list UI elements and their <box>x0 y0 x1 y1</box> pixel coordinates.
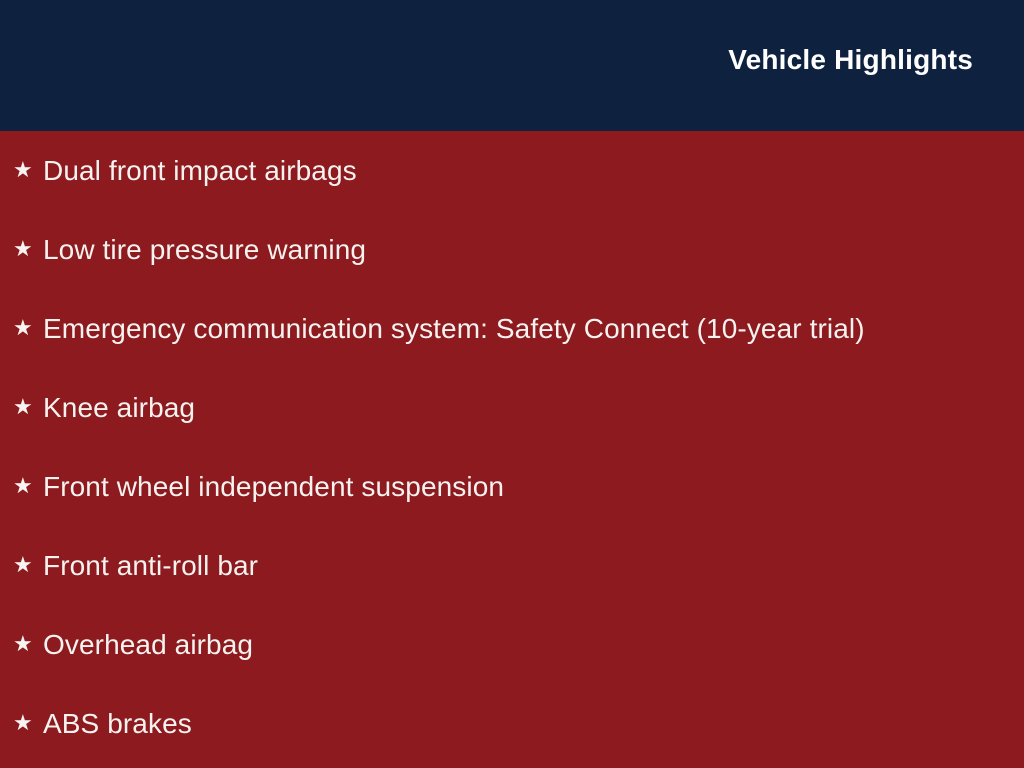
list-item-label: Dual front impact airbags <box>43 153 1024 188</box>
list-item: ★ Overhead airbag <box>0 605 1024 684</box>
list-item: ★ ABS brakes <box>0 684 1024 763</box>
vehicle-highlights-list: ★ Dual front impact airbags ★ Low tire p… <box>0 131 1024 763</box>
star-bullet-icon: ★ <box>13 317 43 339</box>
list-item: ★ Front anti-roll bar <box>0 526 1024 605</box>
star-bullet-icon: ★ <box>13 712 43 734</box>
star-bullet-icon: ★ <box>13 238 43 260</box>
list-item-label: Emergency communication system: Safety C… <box>43 311 1024 346</box>
list-item: ★ Low tire pressure warning <box>0 210 1024 289</box>
list-item: ★ Knee airbag <box>0 368 1024 447</box>
star-bullet-icon: ★ <box>13 396 43 418</box>
list-item: ★ Front wheel independent suspension <box>0 447 1024 526</box>
list-item-label: Low tire pressure warning <box>43 232 1024 267</box>
list-item: ★ Dual front impact airbags <box>0 131 1024 210</box>
star-bullet-icon: ★ <box>13 159 43 181</box>
star-bullet-icon: ★ <box>13 554 43 576</box>
list-item-label: Knee airbag <box>43 390 1024 425</box>
list-item: ★ Emergency communication system: Safety… <box>0 289 1024 368</box>
list-item-label: Front anti-roll bar <box>43 548 1024 583</box>
page-title: Vehicle Highlights <box>728 43 973 77</box>
list-item-label: Front wheel independent suspension <box>43 469 1024 504</box>
header-band: Vehicle Highlights <box>0 0 1024 131</box>
list-item-label: Overhead airbag <box>43 627 1024 662</box>
star-bullet-icon: ★ <box>13 633 43 655</box>
list-item-label: ABS brakes <box>43 706 1024 741</box>
content-area: ★ Dual front impact airbags ★ Low tire p… <box>0 131 1024 768</box>
star-bullet-icon: ★ <box>13 475 43 497</box>
slide-vehicle-highlights: Vehicle Highlights ★ Dual front impact a… <box>0 0 1024 768</box>
